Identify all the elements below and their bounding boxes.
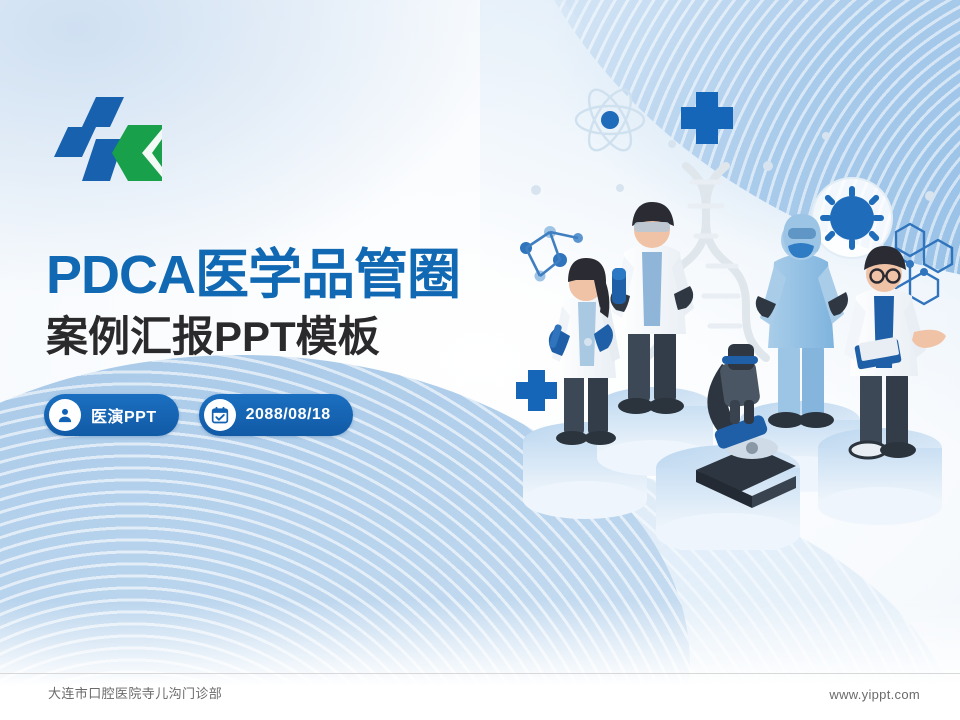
medical-research-team-illustration (500, 70, 960, 550)
flask-icon (612, 268, 626, 304)
meta-badges: 医演PPT 2088/08/18 (44, 394, 353, 436)
hospital-logo (50, 95, 162, 183)
page-subtitle: 案例汇报PPT模板 (46, 316, 380, 358)
date-badge[interactable]: 2088/08/18 (199, 394, 353, 436)
page-title: PDCA医学品管圈 (46, 248, 460, 302)
virus-particle-icon (812, 178, 892, 258)
footer-organization: 大连市口腔医院寺儿沟门诊部 (48, 683, 222, 702)
footer-divider (0, 673, 960, 674)
male-scientist-figure (610, 202, 694, 414)
atom-icon (576, 84, 644, 157)
slide-canvas: PDCA医学品管圈 案例汇报PPT模板 医演PPT (0, 0, 960, 720)
footer-website: www.yippt.com (829, 687, 920, 702)
person-icon (49, 399, 81, 431)
logo-blue-parallelograms (54, 97, 124, 181)
date-badge-label: 2088/08/18 (246, 406, 331, 424)
logo-green-chevron (112, 125, 162, 181)
author-badge[interactable]: 医演PPT (44, 394, 179, 436)
author-badge-label: 医演PPT (91, 403, 157, 427)
background-bottom-fade (0, 600, 960, 720)
calendar-check-icon (204, 399, 236, 431)
